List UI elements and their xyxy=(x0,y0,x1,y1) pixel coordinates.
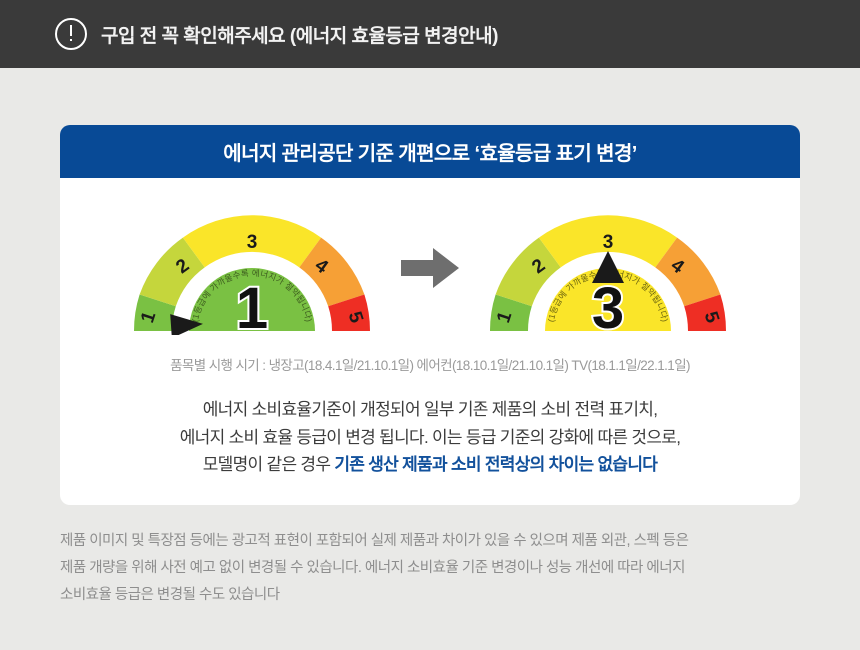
disclaimer-line-2: 제품 개량을 위해 사전 예고 없이 변경될 수 있습니다. 에너지 소비효율 … xyxy=(60,555,802,582)
description-line-3-normal: 모델명이 같은 경우 xyxy=(203,455,335,474)
gauge-after-segment-label-3: 3 xyxy=(603,232,614,253)
disclaimer-line-3: 소비효율 등급은 변경될 수도 있습니다 xyxy=(60,582,802,609)
gauge-before-segment-label-3: 3 xyxy=(247,232,258,253)
top-warning-bar: 구입 전 꼭 확인해주세요 (에너지 효율등급 변경안내) xyxy=(0,0,860,68)
gauge-after-graphic: 1 2 3 4 5 (1등급에 가까울수록 에너지가 절약됩니다) 3 xyxy=(483,201,733,335)
disclaimer-block: 제품 이미지 및 특장점 등에는 광고적 표현이 포함되어 실제 제품과 차이가… xyxy=(60,528,802,608)
schedule-note: 품목별 시행 시기 : 냉장고(18.4.1일/21.10.1일) 에어컨(18… xyxy=(60,354,800,374)
gauge-after: 1 2 3 4 5 (1등급에 가까울수록 에너지가 절약됩니다) 3 xyxy=(483,201,733,335)
description-line-2: 에너지 소비 효율 등급이 변경 됩니다. 이는 등급 기준의 강화에 따른 것… xyxy=(60,424,800,452)
disclaimer-line-1: 제품 이미지 및 특장점 등에는 광고적 표현이 포함되어 실제 제품과 차이가… xyxy=(60,528,802,555)
card-header: 에너지 관리공단 기준 개편으로 ‘효율등급 표기 변경’ xyxy=(60,125,800,178)
description-line-3: 모델명이 같은 경우 기존 생산 제품과 소비 전력상의 차이는 없습니다 xyxy=(60,451,800,479)
gauge-after-pointer-icon xyxy=(592,251,624,283)
gauge-before-graphic: 1 2 3 4 5 (1등급에 가까울수록 에너지가 절약됩니다) xyxy=(127,201,377,335)
description-line-1: 에너지 소비효율기준이 개정되어 일부 기존 제품의 소비 전력 표기치, xyxy=(60,396,800,424)
top-warning-title: 구입 전 꼭 확인해주세요 (에너지 효율등급 변경안내) xyxy=(101,21,498,48)
exclamation-circle-icon xyxy=(55,18,87,50)
gauge-after-grade: 3 xyxy=(592,276,624,335)
gauge-before-grade: 1 xyxy=(236,276,268,335)
description-line-3-highlight: 기존 생산 제품과 소비 전력상의 차이는 없습니다 xyxy=(334,455,657,474)
gauge-before: 1 2 3 4 5 (1등급에 가까울수록 에너지가 절약됩니다) xyxy=(127,201,377,335)
description-block: 에너지 소비효율기준이 개정되어 일부 기존 제품의 소비 전력 표기치, 에너… xyxy=(60,396,800,479)
gauge-comparison: 1 2 3 4 5 (1등급에 가까울수록 에너지가 절약됩니다) xyxy=(60,198,800,338)
card-body: 1 2 3 4 5 (1등급에 가까울수록 에너지가 절약됩니다) xyxy=(60,178,800,505)
notice-card: 에너지 관리공단 기준 개편으로 ‘효율등급 표기 변경’ xyxy=(60,125,800,505)
right-arrow-icon xyxy=(399,246,461,290)
card-header-title: 에너지 관리공단 기준 개편으로 ‘효율등급 표기 변경’ xyxy=(223,137,636,166)
